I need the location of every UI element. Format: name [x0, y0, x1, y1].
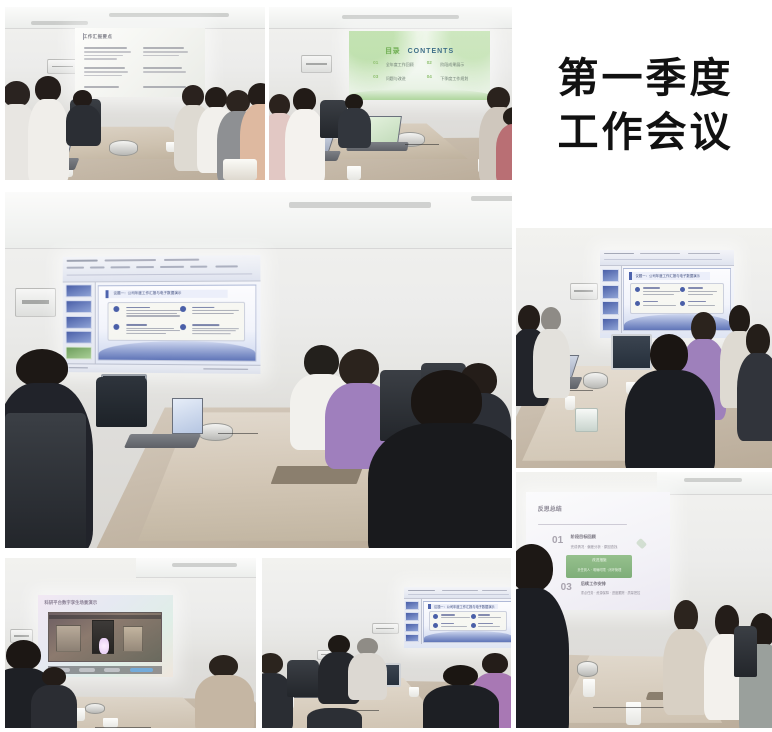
ceiling — [657, 472, 772, 495]
ceiling — [136, 558, 256, 578]
contents-item-label: 阶段成果展示 — [440, 62, 464, 68]
wall-control-box — [372, 623, 399, 635]
slide-thumbnail[interactable] — [405, 601, 419, 610]
slide-thumbnail[interactable] — [65, 300, 92, 313]
contents-item-label: 全年度工作回顾 — [386, 62, 414, 68]
toolbar-button[interactable] — [130, 668, 153, 671]
ceiling — [269, 7, 512, 29]
presenter-laptop — [172, 398, 202, 434]
powerpoint-ribbon — [62, 255, 259, 282]
slide-title-text: 议题一：公司年度工作汇报与电子数据演示 — [434, 604, 495, 609]
attendee — [352, 638, 384, 696]
photo-center-main[interactable]: 议题一：公司年度工作汇报与电子数据演示 — [5, 192, 512, 548]
3d-viewport — [48, 612, 162, 663]
projection-screen-3d-demo: 科研平台数字孪生场景演示 — [38, 595, 174, 677]
summary-item-label: 阶段目标回顾 — [571, 534, 596, 540]
attendee — [288, 88, 322, 180]
slide-thumbnail[interactable] — [405, 612, 419, 621]
summary-item-label: 改进措施 — [566, 558, 632, 563]
slide-thumbnail[interactable] — [602, 269, 619, 283]
summary-item-sub: 完成情况 · 偏差分析 · 原因查找 — [571, 544, 618, 549]
summary-slide-title: 反思总结 — [538, 504, 562, 513]
summary-item-sub: 责任到人 · 明确时限 · 闭环管理 — [566, 567, 632, 572]
title-line-1: 第一季度 — [558, 51, 734, 105]
ceiling — [5, 7, 265, 29]
conference-speaker-phone — [577, 661, 597, 676]
contents-item-label: 问题与改进 — [386, 76, 406, 82]
summary-highlight-box: 改进措施 责任到人 · 明确时限 · 闭环管理 — [566, 555, 632, 579]
demo-slide-title: 科研平台数字孪生场景演示 — [44, 600, 97, 606]
contents-item-number: 03 — [373, 74, 378, 79]
title-line-2: 工作会议 — [558, 105, 734, 159]
contents-title-cn: 目录 — [385, 48, 400, 55]
slide-title-bar: 议题一：公司年度工作汇报与电子数据演示 — [106, 290, 228, 298]
slide-thumbnail[interactable] — [65, 331, 92, 344]
summary-item-number: 03 — [561, 582, 572, 593]
contents-title-en: CONTENTS — [408, 48, 455, 55]
attendee-foreground — [516, 528, 562, 728]
slide-title: 工作汇报要点 — [83, 34, 112, 40]
slide-decor-wave — [98, 340, 255, 360]
attendee-speaking — [201, 655, 249, 728]
slide-title-text: 议题一：公司年度工作汇报与电子数据演示 — [113, 291, 181, 296]
contents-item-number: 02 — [427, 60, 432, 65]
projection-screen-contents-slide: 目录 CONTENTS 01 全年度工作回顾 02 阶段成果展示 03 问题与改… — [349, 31, 490, 100]
slide-thumbnail[interactable] — [405, 623, 419, 632]
attendee — [35, 667, 73, 728]
summary-item-sub: 重点任务 · 资源保障 · 进度跟踪 · 质量把控 — [581, 590, 641, 595]
quarterly-meeting-title: 第一季度 工作会议 — [519, 25, 772, 185]
wall-control-box — [15, 288, 56, 316]
attendee-foreground — [385, 370, 512, 548]
conference-speaker-phone — [109, 140, 138, 156]
attendee — [262, 653, 289, 728]
ceiling — [5, 192, 512, 249]
attendee-foreground — [307, 708, 362, 728]
attendee-foreground — [634, 334, 706, 468]
slide-thumbnail[interactable] — [405, 634, 419, 643]
projection-screen-powerpoint: 议题一：公司年度工作汇报与电子数据演示 — [404, 587, 511, 648]
photo-top-left[interactable]: 工作汇报要点 — [5, 7, 265, 180]
slide-title-bar: 议题一：公司年度工作汇报与电子数据演示 — [428, 604, 497, 609]
photo-collage-board: 工作汇报要点 — [0, 0, 772, 732]
slide-editing-canvas: 议题一：公司年度工作汇报与电子数据演示 — [97, 285, 256, 361]
contents-item-label: 下季度工作规划 — [440, 76, 468, 82]
attendee-foreground — [431, 665, 491, 728]
wall-control-box — [47, 59, 78, 75]
photo-top-right[interactable]: 目录 CONTENTS 01 全年度工作回顾 02 阶段成果展示 03 问题与改… — [269, 7, 512, 180]
slide-content-card — [107, 302, 245, 341]
office-chair — [96, 377, 147, 427]
photo-right-bottom[interactable]: 反思总结 01 阶段目标回顾 完成情况 · 偏差分析 · 原因查找 改进措施 责… — [516, 472, 772, 728]
attendee — [339, 94, 368, 146]
slide-thumbnail[interactable] — [65, 285, 92, 298]
photo-bottom-center[interactable]: 议题一：公司年度工作汇报与电子数据演示 — [262, 558, 511, 728]
toolbar-button[interactable] — [79, 668, 95, 671]
attendee — [667, 600, 705, 708]
slide-title-text: 议题一：公司年度工作汇报与电子数据演示 — [635, 273, 699, 278]
attendee — [500, 107, 512, 180]
slide-thumbnail[interactable] — [602, 285, 619, 299]
office-chair — [5, 413, 86, 548]
projection-screen-powerpoint: 议题一：公司年度工作汇报与电子数据演示 — [62, 255, 259, 374]
slide-thumbnail[interactable] — [65, 316, 92, 329]
attendee — [536, 307, 567, 393]
slide-thumbnail[interactable] — [602, 301, 619, 315]
tissue-box — [575, 408, 598, 432]
contents-item-number: 01 — [373, 60, 378, 65]
toolbar-button[interactable] — [104, 668, 120, 671]
photo-right-middle[interactable]: 议题一：公司年度工作汇报与电子数据演示 — [516, 228, 772, 468]
attendee-presenter — [67, 90, 98, 142]
attendee — [741, 324, 772, 434]
decor-diamond — [635, 538, 646, 549]
photo-bottom-left[interactable]: 科研平台数字孪生场景演示 — [5, 558, 256, 728]
slide-thumbnail[interactable] — [602, 318, 619, 332]
slide-title-bar: 议题一：公司年度工作汇报与电子数据演示 — [629, 272, 709, 279]
contents-item-number: 04 — [427, 74, 432, 79]
wall-control-box — [570, 283, 598, 300]
summary-item-label: 后续工作安排 — [581, 581, 606, 587]
attendee — [31, 76, 67, 180]
wall-control-box — [301, 55, 333, 72]
